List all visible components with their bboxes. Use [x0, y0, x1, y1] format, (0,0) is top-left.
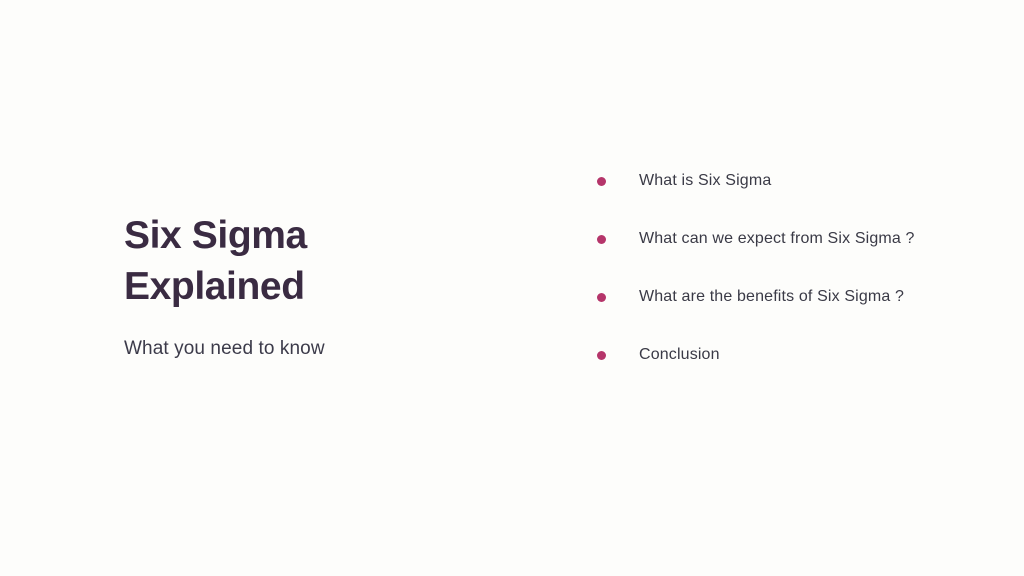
list-item[interactable]: What is Six Sigma	[594, 166, 994, 196]
bullet-dot-icon	[597, 177, 606, 186]
agenda-item-label: What is Six Sigma	[639, 166, 994, 196]
presentation-slide: Six Sigma Explained What you need to kno…	[0, 0, 1024, 576]
list-item[interactable]: What are the benefits of Six Sigma ?	[594, 282, 994, 312]
agenda-list: What is Six Sigma What can we expect fro…	[594, 166, 994, 370]
list-item[interactable]: What can we expect from Six Sigma ?	[594, 224, 994, 254]
title-block: Six Sigma Explained What you need to kno…	[124, 210, 544, 362]
bullet-dot-icon	[597, 235, 606, 244]
list-item[interactable]: Conclusion	[594, 340, 994, 370]
agenda-item-label: Conclusion	[639, 340, 994, 370]
bullet-dot-icon	[597, 351, 606, 360]
bullet-dot-icon	[597, 293, 606, 302]
slide-subtitle: What you need to know	[124, 312, 544, 362]
page-title: Six Sigma Explained	[124, 210, 544, 312]
agenda-item-label: What can we expect from Six Sigma ?	[639, 224, 994, 254]
agenda-item-label: What are the benefits of Six Sigma ?	[639, 282, 994, 312]
